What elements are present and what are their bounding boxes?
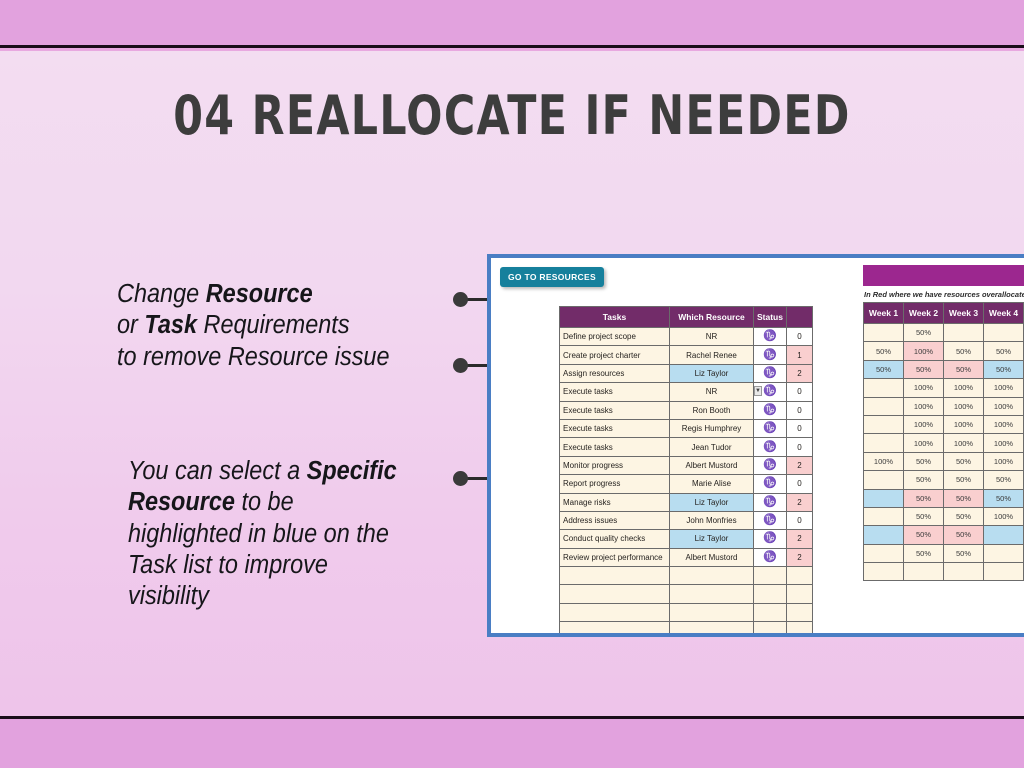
leader-line-resource-start-dot: [453, 292, 468, 307]
cell-status-count: 0: [786, 419, 812, 437]
cell-status-count: [786, 585, 812, 603]
cell-week-allocation[interactable]: 100%: [984, 397, 1024, 415]
task-col-header-1[interactable]: Which Resource: [670, 307, 754, 328]
cell-week-allocation[interactable]: [864, 379, 904, 397]
cell-week-allocation[interactable]: 100%: [944, 397, 984, 415]
callout-1-line-2: to remove Resource issue: [117, 342, 430, 373]
cell-week-allocation[interactable]: [864, 434, 904, 452]
cell-status-count: 0: [786, 438, 812, 456]
cell-status-count: [786, 567, 812, 585]
cell-week-allocation[interactable]: 50%: [864, 360, 904, 378]
person-red-icon: ♑: [763, 552, 777, 563]
cell-status-icon: [754, 603, 787, 621]
cell-status-icon: ♑: [754, 419, 787, 437]
cell-week-allocation[interactable]: 50%: [944, 360, 984, 378]
cell-week-allocation[interactable]: 50%: [904, 489, 944, 507]
cell-resource[interactable]: Jean Tudor: [670, 438, 754, 456]
cell-task[interactable]: Execute tasks: [560, 419, 670, 437]
cell-week-allocation[interactable]: 50%: [944, 507, 984, 525]
person-green-icon: ♑: [763, 442, 777, 453]
cell-task[interactable]: [560, 603, 670, 621]
callout-change-resource: Change Resourceor Task Requirementsto re…: [117, 279, 430, 373]
cell-week-allocation[interactable]: 100%: [904, 342, 944, 360]
table-row[interactable]: Execute tasksNR♑▼0: [560, 383, 813, 401]
table-row[interactable]: Create project charterRachel Renee♑1: [560, 346, 813, 364]
table-row[interactable]: [560, 585, 813, 603]
table-row[interactable]: Assign resourcesLiz Taylor♑2: [560, 364, 813, 382]
cell-week-allocation[interactable]: 50%: [944, 471, 984, 489]
cell-week-allocation[interactable]: [864, 544, 904, 562]
cell-status-count: 0: [786, 401, 812, 419]
cell-resource[interactable]: Liz Taylor: [670, 493, 754, 511]
person-green-icon: ♑: [763, 331, 777, 342]
cell-week-allocation[interactable]: 50%: [944, 526, 984, 544]
cell-week-allocation[interactable]: [984, 324, 1024, 342]
cell-week-allocation[interactable]: 50%: [984, 342, 1024, 360]
week-row[interactable]: 100%50%50%100%: [864, 452, 1024, 470]
cell-week-allocation[interactable]: 50%: [904, 526, 944, 544]
callout-select-specific-resource: You can select a SpecificResource to beh…: [128, 456, 432, 613]
cell-week-allocation[interactable]: [864, 471, 904, 489]
cell-task[interactable]: Report progress: [560, 475, 670, 493]
cell-task[interactable]: Monitor progress: [560, 456, 670, 474]
cell-week-allocation[interactable]: 100%: [944, 379, 984, 397]
cell-week-allocation[interactable]: 100%: [944, 434, 984, 452]
person-green-icon: ♑: [763, 386, 777, 397]
cell-week-allocation[interactable]: 50%: [984, 360, 1024, 378]
week-row[interactable]: [864, 563, 1024, 581]
person-green-icon: ♑: [763, 423, 777, 434]
week-row[interactable]: 50%: [864, 324, 1024, 342]
chevron-down-icon[interactable]: ▼: [754, 386, 762, 396]
table-row[interactable]: [560, 603, 813, 621]
table-row[interactable]: Manage risksLiz Taylor♑2: [560, 493, 813, 511]
cell-week-allocation[interactable]: 50%: [904, 544, 944, 562]
cell-week-allocation[interactable]: [904, 563, 944, 581]
week-row[interactable]: 100%100%100%: [864, 434, 1024, 452]
slide-stage: 04 REALLOCATE IF NEEDED Change Resourceo…: [0, 0, 1024, 768]
table-row[interactable]: Execute tasksRon Booth♑0: [560, 401, 813, 419]
cell-resource[interactable]: NR: [670, 383, 754, 401]
cell-status-icon: ♑▼: [754, 383, 787, 401]
table-row[interactable]: Execute tasksRegis Humphrey♑0: [560, 419, 813, 437]
cell-week-allocation[interactable]: 100%: [904, 379, 944, 397]
table-header-row: TasksWhich ResourceStatus: [560, 307, 813, 328]
cell-status-icon: [754, 567, 787, 585]
cell-resource[interactable]: Ron Booth: [670, 401, 754, 419]
top-border-band: [0, 0, 1024, 48]
table-row[interactable]: Define project scopeNR♑0: [560, 328, 813, 346]
cell-task[interactable]: Address issues: [560, 511, 670, 529]
person-red-icon: ♑: [763, 368, 777, 379]
cell-resource[interactable]: Rachel Renee: [670, 346, 754, 364]
cell-resource[interactable]: Albert Mustord: [670, 548, 754, 566]
cell-status-count: 0: [786, 328, 812, 346]
cell-week-allocation[interactable]: 50%: [984, 489, 1024, 507]
cell-status-count: 0: [786, 511, 812, 529]
week-col-header-1[interactable]: Week 1: [864, 303, 904, 324]
cell-resource[interactable]: [670, 585, 754, 603]
cell-week-allocation[interactable]: [864, 324, 904, 342]
cell-resource[interactable]: Regis Humphrey: [670, 419, 754, 437]
week-header-row: Week 1Week 2Week 3Week 4: [864, 303, 1024, 324]
cell-status-icon: [754, 622, 787, 637]
cell-status-icon: ♑: [754, 548, 787, 566]
week-col-header-2[interactable]: Week 2: [904, 303, 944, 324]
person-red-icon: ♑: [763, 350, 777, 361]
person-red-icon: ♑: [763, 497, 777, 508]
cell-status-icon: [754, 585, 787, 603]
leader-line-specific-start-dot: [453, 471, 468, 486]
table-row[interactable]: Monitor progressAlbert Mustord♑2: [560, 456, 813, 474]
week-row[interactable]: 50%50%50%50%: [864, 360, 1024, 378]
week-col-header-4[interactable]: Week 4: [984, 303, 1024, 324]
cell-week-allocation[interactable]: [984, 526, 1024, 544]
person-green-icon: ♑: [763, 405, 777, 416]
cell-status-count: 2: [786, 456, 812, 474]
leader-line-task-start-dot: [453, 358, 468, 373]
callout-1-line-1: or Task Requirements: [117, 310, 430, 341]
cell-resource[interactable]: [670, 622, 754, 637]
cell-week-allocation[interactable]: [944, 563, 984, 581]
cell-status-count: 2: [786, 548, 812, 566]
cell-week-allocation[interactable]: [864, 489, 904, 507]
cell-status-icon: ♑: [754, 401, 787, 419]
task-col-header-2[interactable]: Status: [754, 307, 787, 328]
cell-week-allocation[interactable]: [984, 563, 1024, 581]
cell-resource[interactable]: [670, 567, 754, 585]
callout-2-line-2: highlighted in blue on the: [128, 519, 432, 550]
cell-week-allocation[interactable]: 100%: [944, 415, 984, 433]
cell-week-allocation[interactable]: 100%: [984, 452, 1024, 470]
week-row[interactable]: 50%100%50%50%: [864, 342, 1024, 360]
cell-resource[interactable]: Liz Taylor: [670, 364, 754, 382]
cell-status-icon: ♑: [754, 328, 787, 346]
cell-week-allocation[interactable]: [864, 397, 904, 415]
cell-week-allocation[interactable]: 100%: [904, 397, 944, 415]
task-col-header-3[interactable]: [786, 307, 812, 328]
page-title: 04 REALLOCATE IF NEEDED: [61, 84, 962, 147]
cell-week-allocation[interactable]: 100%: [984, 415, 1024, 433]
cell-resource[interactable]: John Monfries: [670, 511, 754, 529]
cell-week-allocation[interactable]: 50%: [944, 544, 984, 562]
cell-week-allocation[interactable]: 100%: [904, 415, 944, 433]
task-col-header-0[interactable]: Tasks: [560, 307, 670, 328]
cell-week-allocation[interactable]: 50%: [944, 342, 984, 360]
cell-week-allocation[interactable]: 50%: [904, 452, 944, 470]
cell-task[interactable]: Execute tasks: [560, 383, 670, 401]
table-row[interactable]: Review project performanceAlbert Mustord…: [560, 548, 813, 566]
cell-resource[interactable]: Liz Taylor: [670, 530, 754, 548]
cell-week-allocation[interactable]: 50%: [904, 507, 944, 525]
cell-task[interactable]: [560, 622, 670, 637]
cell-resource[interactable]: Marie Alise: [670, 475, 754, 493]
slide-canvas: 04 REALLOCATE IF NEEDED Change Resourceo…: [0, 51, 1024, 716]
table-row[interactable]: Execute tasksJean Tudor♑0: [560, 438, 813, 456]
cell-task[interactable]: Create project charter: [560, 346, 670, 364]
table-row[interactable]: [560, 622, 813, 637]
callout-2-line-0: You can select a Specific: [128, 456, 432, 487]
go-to-resources-button[interactable]: GO TO RESOURCES: [500, 267, 604, 287]
cell-status-count: 2: [786, 530, 812, 548]
callout-2-line-3: Task list to improve: [128, 550, 432, 581]
cell-status-count: 0: [786, 475, 812, 493]
cell-resource[interactable]: NR: [670, 328, 754, 346]
cell-week-allocation[interactable]: 50%: [904, 471, 944, 489]
person-green-icon: ♑: [763, 515, 777, 526]
cell-status-icon: ♑: [754, 438, 787, 456]
cell-status-count: 2: [786, 493, 812, 511]
callout-2-line-4: visibility: [128, 581, 432, 612]
cell-task[interactable]: Conduct quality checks: [560, 530, 670, 548]
table-row[interactable]: Report progressMarie Alise♑0: [560, 475, 813, 493]
cell-status-icon: ♑: [754, 475, 787, 493]
cell-week-allocation[interactable]: [864, 415, 904, 433]
week-col-header-3[interactable]: Week 3: [944, 303, 984, 324]
cell-week-allocation[interactable]: 100%: [864, 452, 904, 470]
cell-status-count: [786, 622, 812, 637]
week-row[interactable]: 50%50%50%: [864, 489, 1024, 507]
cell-week-allocation[interactable]: 50%: [904, 324, 944, 342]
cell-week-allocation[interactable]: 50%: [984, 471, 1024, 489]
cell-status-icon: ♑: [754, 456, 787, 474]
cell-resource[interactable]: Albert Mustord: [670, 456, 754, 474]
cell-week-allocation[interactable]: [864, 563, 904, 581]
bottom-border-band: [0, 716, 1024, 768]
week-table[interactable]: Week 1Week 2Week 3Week 4 50%50%100%50%50…: [863, 302, 1024, 581]
cell-task[interactable]: Execute tasks: [560, 438, 670, 456]
week-row[interactable]: 100%100%100%: [864, 397, 1024, 415]
table-row[interactable]: [560, 567, 813, 585]
overallocation-note: In Red where we have resources overalloc…: [864, 290, 1024, 299]
cell-task[interactable]: Review project performance: [560, 548, 670, 566]
cell-week-allocation[interactable]: [864, 526, 904, 544]
person-red-icon: ♑: [763, 533, 777, 544]
cell-task[interactable]: [560, 567, 670, 585]
cell-week-allocation[interactable]: [944, 324, 984, 342]
cell-status-icon: ♑: [754, 511, 787, 529]
person-green-icon: ♑: [763, 478, 777, 489]
cell-resource[interactable]: [670, 603, 754, 621]
cell-status-count: 0: [786, 383, 812, 401]
cell-status-icon: ♑: [754, 493, 787, 511]
cell-week-allocation[interactable]: 100%: [984, 507, 1024, 525]
cell-week-allocation[interactable]: 50%: [944, 452, 984, 470]
week-row[interactable]: 50%50%: [864, 526, 1024, 544]
cell-task[interactable]: [560, 585, 670, 603]
section-banner: [863, 265, 1024, 286]
cell-status-count: [786, 603, 812, 621]
cell-week-allocation[interactable]: [864, 507, 904, 525]
cell-status-icon: ♑: [754, 364, 787, 382]
spreadsheet-panel[interactable]: GO TO RESOURCES TasksWhich ResourceStatu…: [487, 254, 1024, 637]
cell-status-icon: ♑: [754, 346, 787, 364]
callout-1-line-0: Change Resource: [117, 279, 430, 310]
cell-task[interactable]: Define project scope: [560, 328, 670, 346]
table-row[interactable]: Conduct quality checksLiz Taylor♑2: [560, 530, 813, 548]
week-row[interactable]: 50%50%100%: [864, 507, 1024, 525]
cell-week-allocation[interactable]: 100%: [904, 434, 944, 452]
week-row[interactable]: 50%50%: [864, 544, 1024, 562]
table-row[interactable]: Address issuesJohn Monfries♑0: [560, 511, 813, 529]
cell-week-allocation[interactable]: 50%: [864, 342, 904, 360]
cell-week-allocation[interactable]: 50%: [944, 489, 984, 507]
cell-week-allocation[interactable]: 100%: [984, 379, 1024, 397]
cell-task[interactable]: Assign resources: [560, 364, 670, 382]
cell-status-count: 2: [786, 364, 812, 382]
cell-week-allocation[interactable]: 50%: [904, 360, 944, 378]
cell-status-icon: ♑: [754, 530, 787, 548]
cell-week-allocation[interactable]: [984, 544, 1024, 562]
cell-task[interactable]: Manage risks: [560, 493, 670, 511]
week-row[interactable]: 100%100%100%: [864, 379, 1024, 397]
person-red-icon: ♑: [763, 460, 777, 471]
cell-task[interactable]: Execute tasks: [560, 401, 670, 419]
week-row[interactable]: 50%50%50%: [864, 471, 1024, 489]
cell-status-count: 1: [786, 346, 812, 364]
cell-week-allocation[interactable]: 100%: [984, 434, 1024, 452]
callout-2-line-1: Resource to be: [128, 487, 432, 518]
task-table[interactable]: TasksWhich ResourceStatus Define project…: [559, 306, 813, 637]
week-row[interactable]: 100%100%100%: [864, 415, 1024, 433]
